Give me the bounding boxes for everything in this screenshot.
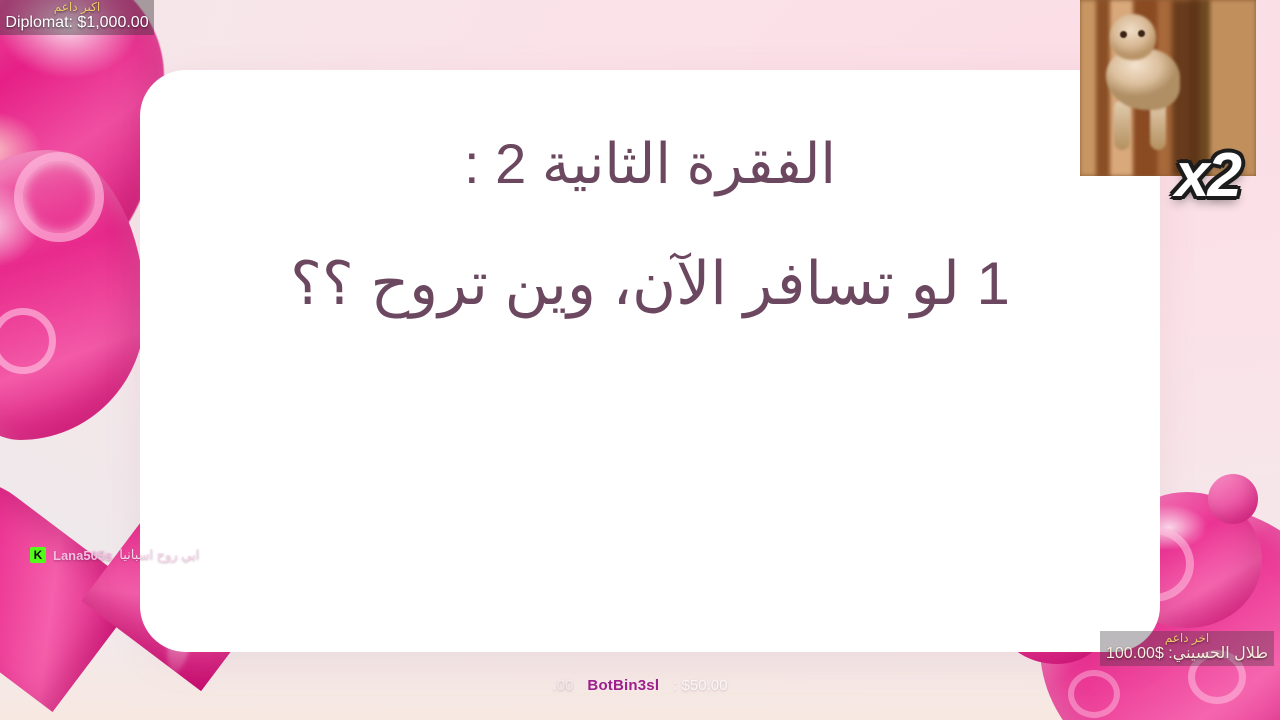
pet-eye-left-icon [1120, 31, 1127, 38]
chat-message-text: ابي روح اسبانيا [119, 547, 199, 563]
question-card: الفقرة الثانية 2 : 1 لو تسافر الآن، وين … [140, 70, 1160, 652]
top-supporter-value: Diplomat: $1,000.00 [4, 15, 150, 32]
last-supporter-label: اخر داعم [1106, 632, 1268, 645]
chat-message: K Lana505s ابي روح اسبانيا [30, 547, 199, 563]
ticker-donor-amount: : $50.00 [673, 677, 727, 694]
last-supporter-value: طلال الحسيني: $100.00 [1106, 645, 1268, 663]
pet-leg-left-icon [1114, 100, 1130, 150]
pet-head-icon [1110, 14, 1156, 60]
multiplier-badge-icon: x2 [1175, 140, 1240, 211]
ticker-previous-entry: .00 [553, 677, 574, 694]
pet-eye-right-icon [1138, 30, 1145, 37]
last-supporter-widget: اخر داعم طلال الحسيني: $100.00 [1100, 631, 1274, 666]
top-supporter-label: اكبر داعم [4, 1, 150, 15]
donation-ticker: .00 BotBin3sl : $50.00 [0, 672, 1280, 698]
segment-title: الفقرة الثانية 2 : [464, 132, 836, 196]
kick-badge-icon: K [30, 547, 46, 563]
stream-overlay-screen: الفقرة الثانية 2 : 1 لو تسافر الآن، وين … [0, 0, 1280, 720]
question-card-content: الفقرة الثانية 2 : 1 لو تسافر الآن، وين … [140, 132, 1160, 320]
top-supporter-widget: اكبر داعم Diplomat: $1,000.00 [0, 0, 154, 35]
question-text: 1 لو تسافر الآن، وين تروح ؟؟ [290, 248, 1010, 320]
ticker-donor-name: BotBin3sl [587, 677, 659, 694]
chat-message-username: Lana505s [53, 548, 112, 563]
